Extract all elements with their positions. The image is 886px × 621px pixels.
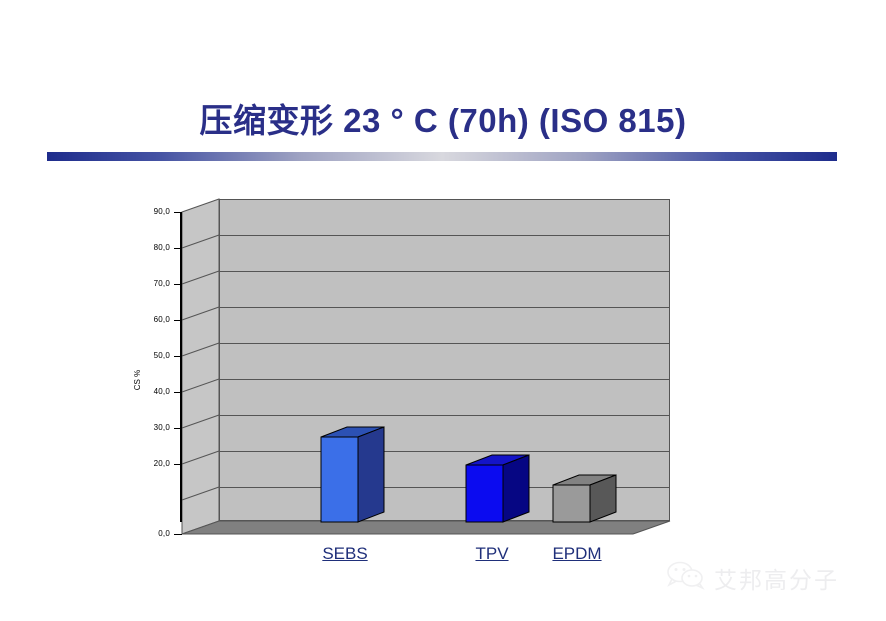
watermark: 艾邦高分子: [666, 560, 839, 595]
watermark-text: 艾邦高分子: [714, 561, 839, 595]
bar-epdm-front: [553, 485, 590, 522]
category-label-sebs: SEBS: [305, 544, 385, 564]
category-label-tpv: TPV: [452, 544, 532, 564]
bar-chart: 90,0 80,0 70,0 60,0 50,0 40,0 30,0 20,0 …: [0, 0, 886, 621]
wechat-icon: [666, 560, 706, 595]
category-label-epdm: EPDM: [537, 544, 617, 564]
